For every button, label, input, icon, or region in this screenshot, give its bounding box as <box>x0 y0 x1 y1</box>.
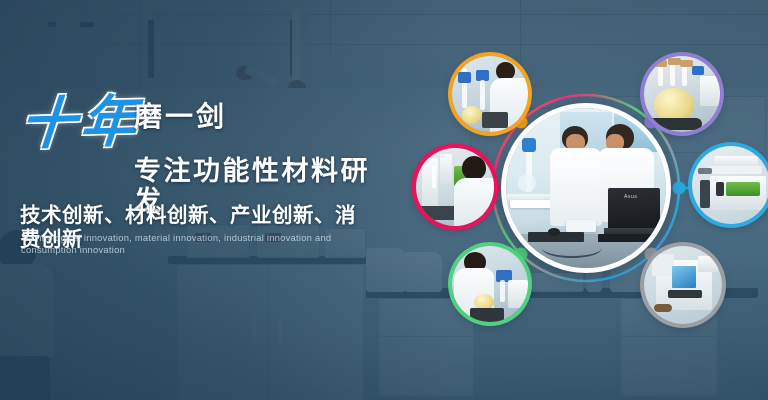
tagline-english: Technological innovation, material innov… <box>21 232 372 256</box>
photo-collage: Asus <box>400 34 768 382</box>
node-photo-chemist-reactor[interactable] <box>452 56 528 132</box>
headline-sub-text: 磨一剑 <box>134 102 227 132</box>
node-photo-technician-testing-machine[interactable] <box>416 148 494 226</box>
node-photo-researcher-mixer[interactable] <box>452 246 528 322</box>
node-photo-flask-yellow-solution[interactable] <box>644 56 720 132</box>
node-photo-analysis-equipment[interactable] <box>644 246 722 324</box>
node-photo-benchtop-instrument[interactable] <box>692 146 768 224</box>
brush-calligraphy-text: 十年 <box>18 92 143 153</box>
center-photo-researchers[interactable]: Asus <box>506 108 666 268</box>
junction-dot-right <box>673 182 686 195</box>
headline-block: 十年 磨一剑 专注功能性材料研发 技术创新、材料创新、产业创新、消费创新 Tec… <box>12 96 372 158</box>
promotional-banner: 十年 磨一剑 专注功能性材料研发 技术创新、材料创新、产业创新、消费创新 Tec… <box>0 0 768 400</box>
headline-line-one: 十年 磨一剑 <box>12 96 372 158</box>
